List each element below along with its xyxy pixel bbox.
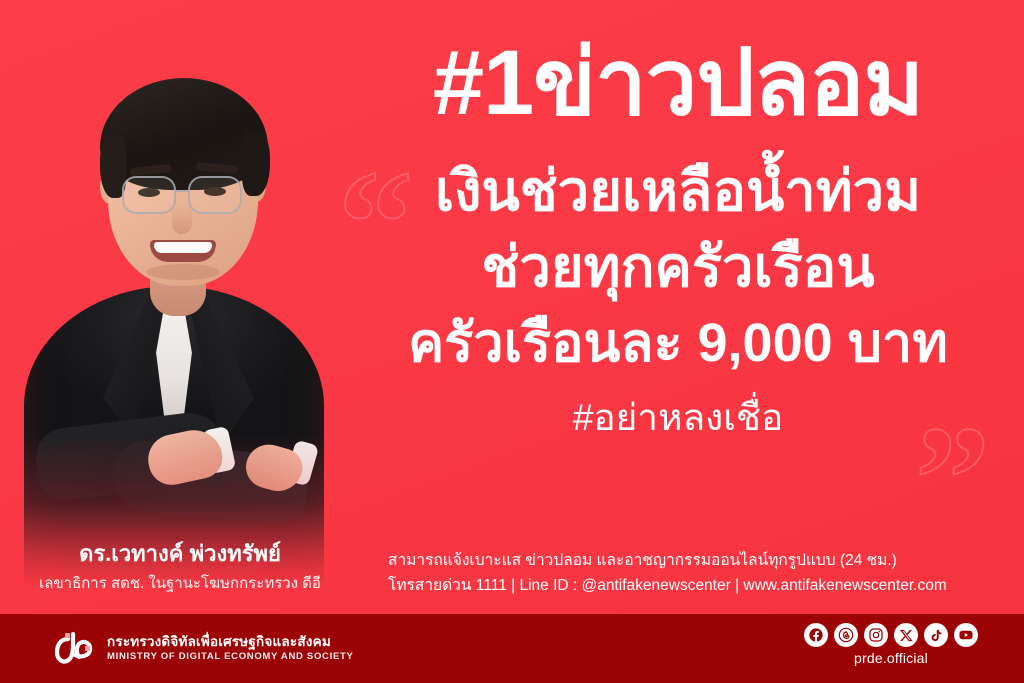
headline-line-2: เงินช่วยเหลือน้ำท่วม: [352, 155, 1004, 227]
speaker-title: เลขาธิการ สดช. ในฐานะโฆษกกระทรวง ดีอี: [0, 573, 360, 594]
ministry-logo-group: กระทรวงดิจิทัลเพื่อเศรษฐกิจและสังคม MINI…: [52, 627, 354, 671]
eyeglasses-lens-left: [122, 176, 176, 214]
ministry-name-en: MINISTRY OF DIGITAL ECONOMY AND SOCIETY: [107, 651, 354, 663]
headline-hashtag: #อย่าหลงเชื่อ: [352, 394, 1004, 442]
threads-icon[interactable]: [834, 623, 858, 647]
ministry-name-th: กระทรวงดิจิทัลเพื่อเศรษฐกิจและสังคม: [107, 634, 354, 651]
contact-channels-line: โทรสายด่วน 1111 | Line ID : @antifakenew…: [388, 573, 988, 598]
x-twitter-icon[interactable]: [894, 623, 918, 647]
social-icons: [804, 623, 978, 647]
ministry-logo-text: กระทรวงดิจิทัลเพื่อเศรษฐกิจและสังคม MINI…: [107, 634, 354, 663]
speaker-portrait: [0, 28, 350, 593]
social-handle: prde.official: [854, 650, 928, 667]
headline-block: #1ข่าวปลอม เงินช่วยเหลือน้ำท่วม ช่วยทุกค…: [352, 34, 1004, 442]
contact-block: สามารถแจ้งเบาะแส ข่าวปลอม และอาชญากรรมออ…: [388, 548, 988, 598]
eyeglasses-lens-right: [188, 176, 242, 214]
de-monogram-icon: [52, 627, 96, 671]
portrait-illustration: [0, 28, 350, 593]
youtube-icon[interactable]: [954, 623, 978, 647]
social-group: prde.official: [804, 623, 978, 667]
headline-line-4: ครัวเรือนละ 9,000 บาท: [352, 309, 1004, 378]
mouth: [150, 240, 216, 262]
speaker-caption: ดร.เวทางค์ พ่วงทรัพย์ เลขาธิการ สดช. ในฐ…: [0, 540, 360, 594]
nose: [172, 204, 192, 234]
footer-bar: กระทรวงดิจิทัลเพื่อเศรษฐกิจและสังคม MINI…: [0, 614, 1024, 683]
teeth: [154, 242, 212, 253]
fake-news-alert-poster: “ ”: [0, 0, 1024, 683]
facebook-icon[interactable]: [804, 623, 828, 647]
instagram-icon[interactable]: [864, 623, 888, 647]
eyeglasses-bridge: [176, 190, 190, 192]
headline-line-3: ช่วยทุกครัวเรือน: [352, 231, 1004, 303]
tiktok-icon[interactable]: [924, 623, 948, 647]
headline-rank: #1ข่าวปลอม: [352, 34, 1004, 133]
contact-report-line: สามารถแจ้งเบาะแส ข่าวปลอม และอาชญากรรมออ…: [388, 548, 988, 573]
hair-side-right: [242, 132, 270, 196]
speaker-name: ดร.เวทางค์ พ่วงทรัพย์: [0, 540, 360, 569]
chin-shadow: [146, 264, 220, 280]
